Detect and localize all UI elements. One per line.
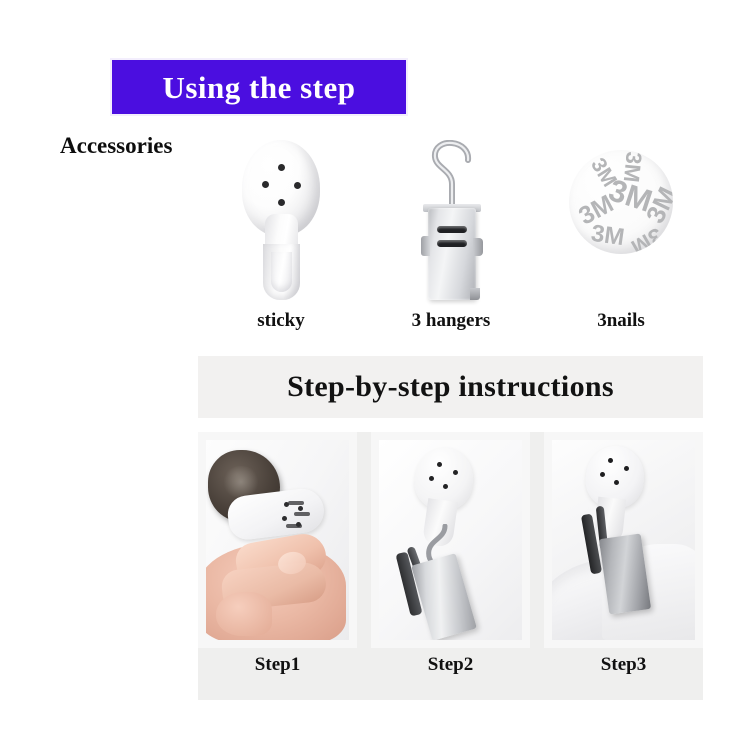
step-caption-2: Step2 <box>371 648 530 688</box>
hook-tab <box>294 512 310 516</box>
clip-body-shape <box>428 208 476 300</box>
hook-hole <box>614 480 619 485</box>
accessories-section-label: Accessories <box>60 133 172 159</box>
step-card-3 <box>544 432 703 648</box>
hook-hole <box>298 506 303 511</box>
hook-hole <box>608 458 613 463</box>
adhesive-pad-icon: 3M 3M 3M 3M 3M 3M 3M <box>569 150 673 254</box>
hook-hole <box>284 502 289 507</box>
accessory-item-sticky: sticky <box>196 140 366 340</box>
clip-lever-left <box>421 236 430 256</box>
hook-hole-top <box>278 164 285 171</box>
hook-hole <box>600 472 605 477</box>
hook-hole-bottom <box>278 199 285 206</box>
accessory-caption: sticky <box>257 310 305 332</box>
clip-on-hook-photo <box>379 440 522 640</box>
hook-hole <box>624 466 629 471</box>
clip-slot-upper <box>437 226 467 233</box>
step-caption-3: Step3 <box>544 648 703 688</box>
hook-lip-shape <box>271 252 292 292</box>
accessory-art: 3M 3M 3M 3M 3M 3M 3M <box>536 140 706 308</box>
hook-hole <box>453 470 458 475</box>
hook-hole <box>282 516 287 521</box>
accessories-row: sticky 3 hangers <box>196 140 706 340</box>
instructions-header-band: Step-by-step instructions <box>198 356 703 418</box>
panel-divider <box>198 418 703 432</box>
step-photos-row <box>198 432 703 648</box>
hook-hole <box>443 484 448 489</box>
clip-gripping-fabric-photo <box>552 440 695 640</box>
pad-brand-mark: 3M <box>627 224 666 254</box>
step-caption-1: Step1 <box>198 648 357 688</box>
accessory-art <box>366 140 536 308</box>
clip-lever-right <box>473 238 483 256</box>
accessory-caption: 3 hangers <box>412 310 491 332</box>
instructions-panel: Step-by-step instructions <box>198 356 703 700</box>
pad-brand-mark: 3M <box>620 151 645 184</box>
clip-slot-lower <box>437 240 467 247</box>
page-title: Using the step <box>162 72 355 103</box>
hook-hole-right <box>294 182 301 189</box>
hook-hole <box>437 462 442 467</box>
title-banner: Using the step <box>112 60 406 114</box>
step-card-1 <box>198 432 357 648</box>
accessory-item-nails: 3M 3M 3M 3M 3M 3M 3M 3nails <box>536 140 706 340</box>
step-card-2 <box>371 432 530 648</box>
hanger-clip-icon <box>410 140 492 305</box>
accessory-item-hangers: 3 hangers <box>366 140 536 340</box>
hook-hole <box>429 476 434 481</box>
hook-hole <box>296 522 301 527</box>
step-captions-row: Step1 Step2 Step3 <box>198 648 703 688</box>
product-instruction-infographic: Using the step Accessories sticky <box>0 0 750 750</box>
accessory-caption: 3nails <box>597 310 645 332</box>
instructions-header-title: Step-by-step instructions <box>287 370 614 404</box>
hook-tab <box>288 501 304 505</box>
knuckle-shape <box>216 592 272 636</box>
hand-pressing-hook-photo <box>206 440 349 640</box>
pad-brand-mark: 3M <box>589 222 625 250</box>
accessory-art <box>196 140 366 308</box>
wall-hook-icon <box>242 140 320 300</box>
clip-foot <box>470 288 480 300</box>
hook-hole-left <box>262 181 269 188</box>
